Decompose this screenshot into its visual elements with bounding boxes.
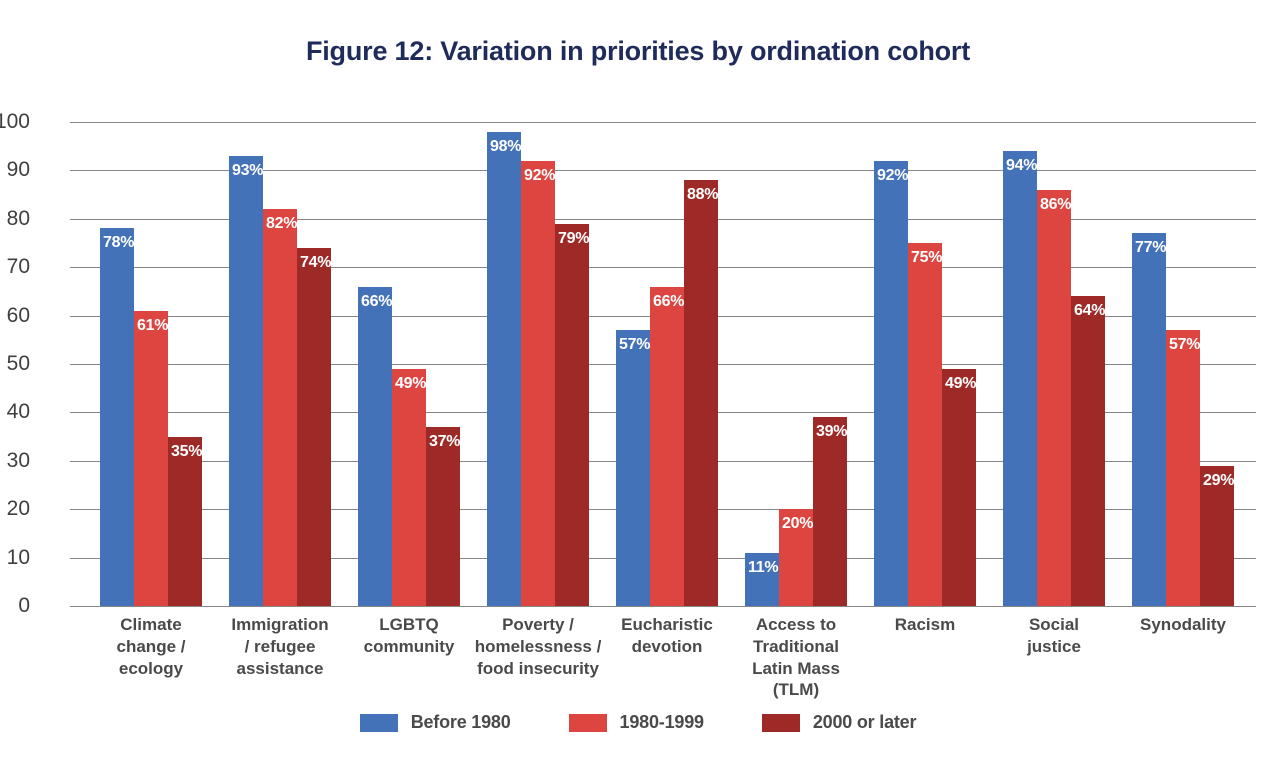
bar[interactable]: 78% <box>100 228 134 606</box>
category-label-line: Eucharistic <box>592 614 742 636</box>
x-axis-category-label: Climatechange /ecology <box>76 614 226 679</box>
bar-value-label: 66% <box>653 293 684 311</box>
legend-item[interactable]: 1980-1999 <box>569 712 704 733</box>
legend-item[interactable]: Before 1980 <box>360 712 511 733</box>
category-label-line: Immigration <box>205 614 355 636</box>
axis-baseline <box>82 606 1256 607</box>
y-axis-tick-label: 90 <box>0 159 30 180</box>
category-label-line: food insecurity <box>463 658 613 680</box>
category-label-line: Poverty / <box>463 614 613 636</box>
y-axis-tick-mark <box>70 558 82 559</box>
bar[interactable]: 77% <box>1132 233 1166 606</box>
bar[interactable]: 88% <box>684 180 718 606</box>
x-axis-category-label: Access toTraditionalLatin Mass(TLM) <box>721 614 871 701</box>
y-axis-tick-label: 40 <box>0 401 30 422</box>
bar[interactable]: 57% <box>1166 330 1200 606</box>
bar-value-label: 88% <box>687 186 718 204</box>
category-label-line: Traditional <box>721 636 871 658</box>
bar[interactable]: 39% <box>813 417 847 606</box>
bar-value-label: 92% <box>524 167 555 185</box>
bar[interactable]: 66% <box>650 287 684 606</box>
bar-value-label: 92% <box>877 167 908 185</box>
bar-value-label: 93% <box>232 162 263 180</box>
bar[interactable]: 37% <box>426 427 460 606</box>
y-axis-tick-label: 100 <box>0 111 30 132</box>
chart-legend: Before 19801980-19992000 or later <box>0 712 1276 733</box>
x-axis-category-label: Socialjustice <box>979 614 1129 658</box>
category-label-line: Racism <box>850 614 1000 636</box>
y-axis-tick-label: 30 <box>0 450 30 471</box>
bar-value-label: 77% <box>1135 239 1166 257</box>
legend-label: Before 1980 <box>411 712 511 733</box>
bar[interactable]: 49% <box>942 369 976 606</box>
bar-group: 92%75%49% <box>874 122 976 606</box>
legend-color-swatch <box>569 714 607 732</box>
bar[interactable]: 66% <box>358 287 392 606</box>
bar[interactable]: 82% <box>263 209 297 606</box>
bar-value-label: 57% <box>619 336 650 354</box>
bar-value-label: 82% <box>266 215 297 233</box>
y-axis-tick-label: 0 <box>0 595 30 616</box>
x-axis-category-label: Eucharisticdevotion <box>592 614 742 658</box>
bar[interactable]: 35% <box>168 437 202 606</box>
category-label-line: change / <box>76 636 226 658</box>
category-label-line: (TLM) <box>721 679 871 701</box>
bar[interactable]: 20% <box>779 509 813 606</box>
bar-group: 98%92%79% <box>487 122 589 606</box>
bar-value-label: 29% <box>1203 472 1234 490</box>
bar-value-label: 75% <box>911 249 942 267</box>
plot-area: 78%61%35%93%82%74%66%49%37%98%92%79%57%6… <box>82 122 1256 606</box>
bar-value-label: 57% <box>1169 336 1200 354</box>
legend-color-swatch <box>360 714 398 732</box>
bar-value-label: 49% <box>945 375 976 393</box>
legend-label: 1980-1999 <box>620 712 704 733</box>
y-axis-tick-mark <box>70 509 82 510</box>
bar-value-label: 64% <box>1074 302 1105 320</box>
bar-group: 94%86%64% <box>1003 122 1105 606</box>
y-axis-tick-mark <box>70 219 82 220</box>
y-axis-tick-mark <box>70 122 82 123</box>
bar-group: 77%57%29% <box>1132 122 1234 606</box>
chart-title: Figure 12: Variation in priorities by or… <box>0 36 1276 67</box>
legend-color-swatch <box>762 714 800 732</box>
y-axis-tick-label: 50 <box>0 353 30 374</box>
category-label-line: Climate <box>76 614 226 636</box>
bar-value-label: 35% <box>171 443 202 461</box>
legend-item[interactable]: 2000 or later <box>762 712 916 733</box>
category-label-line: homelessness / <box>463 636 613 658</box>
bar[interactable]: 92% <box>521 161 555 606</box>
bar-group: 57%66%88% <box>616 122 718 606</box>
bar-group: 11%20%39% <box>745 122 847 606</box>
y-axis-tick-label: 80 <box>0 208 30 229</box>
category-label-line: Synodality <box>1108 614 1258 636</box>
category-label-line: ecology <box>76 658 226 680</box>
y-axis-tick-mark <box>70 412 82 413</box>
bar-group: 78%61%35% <box>100 122 202 606</box>
bar[interactable]: 98% <box>487 132 521 606</box>
x-axis-category-label: Racism <box>850 614 1000 636</box>
bar[interactable]: 79% <box>555 224 589 606</box>
category-label-line: devotion <box>592 636 742 658</box>
x-axis-category-label: Immigration/ refugeeassistance <box>205 614 355 679</box>
y-axis-tick-mark <box>70 461 82 462</box>
y-axis-tick-label: 10 <box>0 547 30 568</box>
bar[interactable]: 92% <box>874 161 908 606</box>
bar-value-label: 37% <box>429 433 460 451</box>
bar[interactable]: 29% <box>1200 466 1234 606</box>
y-axis-tick-mark <box>70 364 82 365</box>
bar[interactable]: 94% <box>1003 151 1037 606</box>
y-axis-tick-mark <box>70 316 82 317</box>
bar-value-label: 98% <box>490 138 521 156</box>
bar-group: 93%82%74% <box>229 122 331 606</box>
y-axis-tick-mark <box>70 267 82 268</box>
x-axis-category-label: Poverty /homelessness /food insecurity <box>463 614 613 679</box>
figure-12-chart: Figure 12: Variation in priorities by or… <box>0 0 1276 772</box>
bar-value-label: 74% <box>300 254 331 272</box>
category-label-line: Social <box>979 614 1129 636</box>
bar-value-label: 20% <box>782 515 813 533</box>
y-axis-tick-mark <box>70 170 82 171</box>
x-axis-category-label: Synodality <box>1108 614 1258 636</box>
category-label-line: Access to <box>721 614 871 636</box>
category-label-line: Latin Mass <box>721 658 871 680</box>
bar[interactable]: 57% <box>616 330 650 606</box>
legend-label: 2000 or later <box>813 712 916 733</box>
bar-value-label: 94% <box>1006 157 1037 175</box>
bar-value-label: 79% <box>558 230 589 248</box>
bar-value-label: 66% <box>361 293 392 311</box>
category-label-line: assistance <box>205 658 355 680</box>
category-label-line: justice <box>979 636 1129 658</box>
y-axis-tick-label: 70 <box>0 256 30 277</box>
bar[interactable]: 86% <box>1037 190 1071 606</box>
bar[interactable]: 49% <box>392 369 426 606</box>
category-label-line: community <box>334 636 484 658</box>
bar-value-label: 39% <box>816 423 847 441</box>
y-axis-tick-mark <box>70 606 82 607</box>
y-axis-tick-label: 60 <box>0 305 30 326</box>
bar-value-label: 78% <box>103 234 134 252</box>
x-axis-category-label: LGBTQcommunity <box>334 614 484 658</box>
bar-value-label: 86% <box>1040 196 1071 214</box>
bar[interactable]: 64% <box>1071 296 1105 606</box>
bar[interactable]: 93% <box>229 156 263 606</box>
bar[interactable]: 61% <box>134 311 168 606</box>
bar[interactable]: 75% <box>908 243 942 606</box>
bar-value-label: 11% <box>748 559 778 577</box>
bar[interactable]: 74% <box>297 248 331 606</box>
bar-value-label: 49% <box>395 375 426 393</box>
bar-value-label: 61% <box>137 317 168 335</box>
y-axis-tick-label: 20 <box>0 498 30 519</box>
category-label-line: / refugee <box>205 636 355 658</box>
bar[interactable]: 11% <box>745 553 779 606</box>
category-label-line: LGBTQ <box>334 614 484 636</box>
bar-group: 66%49%37% <box>358 122 460 606</box>
